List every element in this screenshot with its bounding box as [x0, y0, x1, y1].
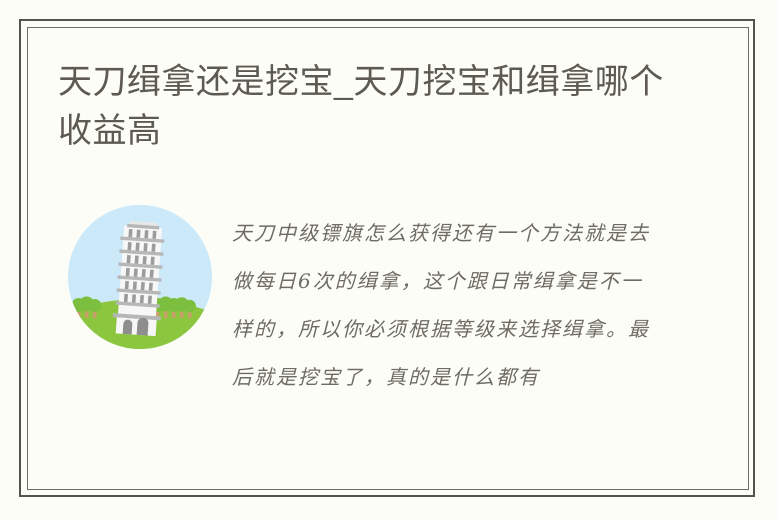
article-thumbnail — [68, 205, 212, 349]
article-content: 天刀缉拿还是挖宝_天刀挖宝和缉拿哪个收益高 — [0, 0, 777, 520]
page-title: 天刀缉拿还是挖宝_天刀挖宝和缉拿哪个收益高 — [58, 58, 678, 156]
article-body-text: 天刀中级镖旗怎么获得还有一个方法就是去做每日6次的缉拿，这个跟日常缉拿是不一样的… — [232, 209, 652, 401]
pisa-tower-icon — [68, 205, 212, 349]
article-screenshot: 天刀缉拿还是挖宝_天刀挖宝和缉拿哪个收益高 — [0, 0, 777, 520]
